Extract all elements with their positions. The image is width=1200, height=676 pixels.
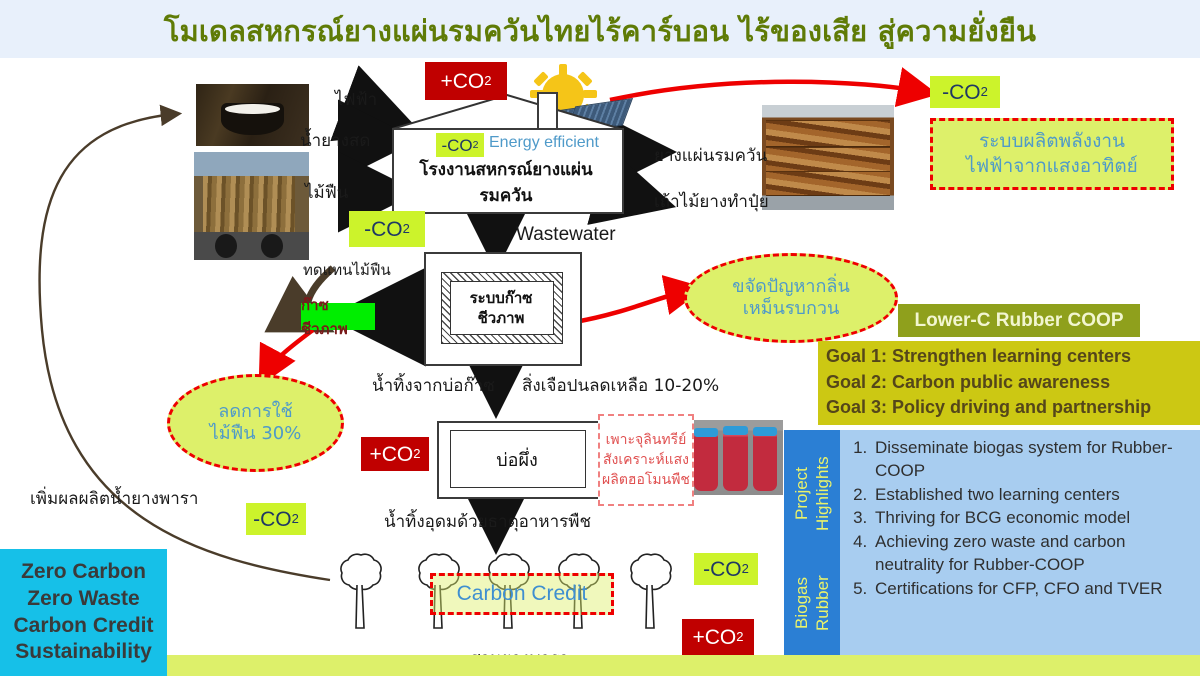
spine-line1: Biogas Rubber [791,552,834,653]
summary-line-2: Zero Waste [0,586,167,613]
odor-line1: ขจัดปัญหากลิ่น [732,276,850,299]
microbe-callout: เพาะจุลินทรีย์ สังเคราะห์แสง ผลิตฮอโมนพื… [598,414,694,506]
spine-line2: Project Highlights [791,434,834,552]
energy-efficient-label: Energy efficient [489,134,599,152]
co2-minus-trees-chip: -CO2 [694,553,758,585]
carbon-credit-badge: Carbon Credit [430,573,614,615]
co2-minus-solar-chip: -CO2 [930,76,1000,108]
summary-line-1: Zero Carbon [0,559,167,586]
input-fresh-latex-label: น้ำยางสด [300,127,370,154]
co2-plus-factory-chip: +CO2 [425,62,507,100]
goal-item-1: Goal 1: Strengthen learning centers [826,344,1200,370]
infographic-canvas: โมเดลสหกรณ์ยางแผ่นรมควันไทยไร้คาร์บอน ไร… [0,0,1200,676]
project-highlights-panel: Biogas Rubber Project Highlights Dissemi… [784,430,1200,657]
highlight-item: Achieving zero waste and carbon neutrali… [872,531,1192,577]
carbon-credit-label: Carbon Credit [457,582,588,606]
goal-item-3: Goal 3: Policy driving and partnership [826,395,1200,421]
contaminant-reduction-label: สิ่งเจือปนลดเหลือ 10-20% [522,372,719,399]
co2-minus-latex-chip: -CO2 [246,503,306,535]
odor-line2: เหม็นรบกวน [743,298,840,321]
solar-system-callout: ระบบผลิตพลังงาน ไฟฟ้าจากแสงอาทิตย์ [930,118,1174,190]
co2-minus-wood-chip: -CO2 [349,211,425,247]
wastewater-label: Wastewater [516,224,616,246]
summary-block: Zero Carbon Zero Waste Carbon Credit Sus… [0,549,167,676]
co2-plus-factory-text: +CO [440,71,484,92]
highlight-item: Disseminate biogas system for Rubber-COO… [872,437,1192,483]
page-title: โมเดลสหกรณ์ยางแผ่นรมควันไทยไร้คาร์บอน ไร… [0,8,1200,54]
co2-plus-pond-chip: +CO2 [361,437,429,471]
factory-name-line2: รมควัน [392,182,620,209]
replace-firewood-label: ทดแทนไม้ฟืน [303,258,391,282]
summary-line-4: Sustainability [0,639,167,666]
highlights-body: Disseminate biogas system for Rubber-COO… [840,430,1200,657]
biogas-effluent-label: น้ำทิ้งจากบ่อก๊าซ [372,372,495,399]
input-firewood-label: ไม้ฟืน [305,179,348,206]
pond-name: บ่อผึ่ง [450,445,584,474]
highlights-spine-label: Biogas Rubber Project Highlights [784,430,840,657]
biogas-system-line2: ชีวภาพ [450,306,552,330]
goal-item-2: Goal 2: Carbon public awareness [826,370,1200,396]
co2-minus-energy-chip: -CO2 [436,133,484,157]
factory-name-line1: โรงงานสหกรณ์ยางแผ่น [392,156,620,183]
microbe-line3: ผลิตฮอโมนพืช [602,470,690,490]
summary-line-3: Carbon Credit [0,613,167,640]
coop-goals-block: Goal 1: Strengthen learning centers Goal… [818,341,1200,425]
output-smoked-sheet-label: ยางแผ่นรมควัน [654,142,767,169]
bottom-accent-strip [167,655,1200,676]
reduce-line2: ไม้ฟืน 30% [210,423,302,446]
tree-icon [330,545,392,630]
biogas-gas-label: ก๊าซชีวภาพ [301,303,375,330]
odor-removal-callout: ขจัดปัญหากลิ่น เหม็นรบกวน [684,253,898,343]
increase-yield-label: เพิ่มผลผลิตน้ำยางพารา [30,485,198,512]
highlight-item: Established two learning centers [872,484,1192,507]
reduce-line1: ลดการใช้ [218,401,292,424]
smoked-rubber-sheets-photo [762,105,894,210]
highlight-item: Certifications for CFP, CFO and TVER [872,578,1192,601]
solar-callout-line2: ไฟฟ้าจากแสงอาทิตย์ [966,154,1138,179]
co2-plus-trees-chip: +CO2 [682,619,754,655]
output-wood-compost-label: เถ้าไม้ยางทำปุ๋ย [654,188,769,215]
solar-callout-line1: ระบบผลิตพลังงาน [979,129,1125,154]
highlight-item: Thriving for BCG economic model [872,507,1192,530]
microbe-line1: เพาะจุลินทรีย์ [606,430,687,450]
input-electricity-label: ไฟฟ้า [335,86,377,113]
pond-nutrient-label: น้ำทิ้งอุดมด้วยธาตุอาหารพืช [384,508,591,535]
microbe-line2: สังเคราะห์แสง [603,450,689,470]
latex-cup-photo [196,84,309,146]
coop-badge: Lower-C Rubber COOP [898,304,1140,337]
firewood-truck-photo [194,152,309,260]
microbe-bottles-photo [690,420,783,495]
reduce-firewood-callout: ลดการใช้ ไม้ฟืน 30% [167,374,344,472]
co2-minus-energy-text: -CO [441,137,472,154]
tree-icon [620,545,682,630]
